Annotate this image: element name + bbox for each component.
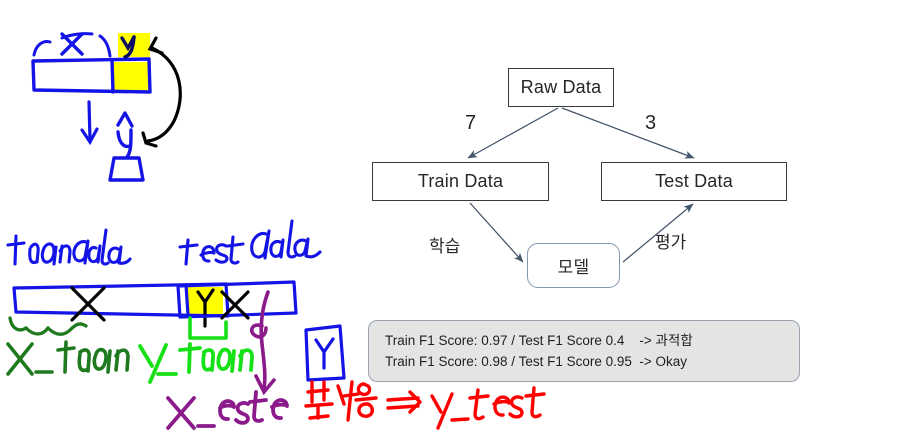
edge-label-train: 학습 (429, 232, 460, 257)
arrow-raw-to-train (468, 108, 558, 158)
sketch-caption-test-data (180, 221, 320, 264)
sketch-data-bar (33, 59, 150, 92)
sketch-y-box (306, 326, 344, 380)
arrow-raw-to-test (562, 108, 694, 158)
sketch-down-arrow (82, 102, 97, 142)
sketch-train-y (198, 290, 213, 326)
arrow-train-to-model (470, 203, 523, 262)
edge-label-train-ratio: 7 (465, 112, 476, 135)
sketch-train-X (72, 288, 104, 320)
highlight-target-column (112, 62, 149, 92)
sketch-arrow-x-test (252, 292, 274, 392)
sketch-test-bar (178, 282, 296, 317)
sketch-red-note (306, 382, 544, 428)
score-info-box: Train F1 Score: 0.97 / Test F1 Score 0.4… (368, 320, 800, 382)
sketch-brace-x-train (10, 318, 86, 334)
sketch-feature-brace (34, 34, 110, 56)
sketch-label-x-train (8, 342, 128, 374)
sketch-test-X (222, 292, 248, 318)
highlight-y-label (118, 33, 150, 57)
sketch-label-X (62, 34, 82, 54)
sketch-label-y-train (140, 344, 252, 382)
sketch-compare-arrow (143, 38, 180, 146)
whiteboard-canvas: Raw Data Train Data Test Data 모델 7 3 학습 … (0, 0, 922, 440)
edge-label-evaluate: 평가 (655, 228, 686, 253)
sketch-label-x-test (168, 392, 287, 428)
edge-label-test-ratio: 3 (645, 112, 656, 135)
node-raw-data[interactable]: Raw Data (508, 68, 614, 107)
score-line-okay: Train F1 Score: 0.98 / Test F1 Score 0.9… (385, 351, 783, 372)
sketch-caption-train-data (8, 230, 130, 264)
node-model[interactable]: 모델 (527, 243, 620, 288)
sketch-bracket-y-train (190, 318, 226, 338)
sketch-label-y (122, 37, 134, 57)
sketch-label-yhat (110, 113, 143, 180)
sketch-train-bar (14, 284, 228, 316)
highlight-train-target (188, 287, 223, 315)
node-test-data[interactable]: Test Data (601, 162, 787, 201)
node-train-data[interactable]: Train Data (372, 162, 549, 201)
score-line-overfit: Train F1 Score: 0.97 / Test F1 Score 0.4… (385, 330, 783, 351)
